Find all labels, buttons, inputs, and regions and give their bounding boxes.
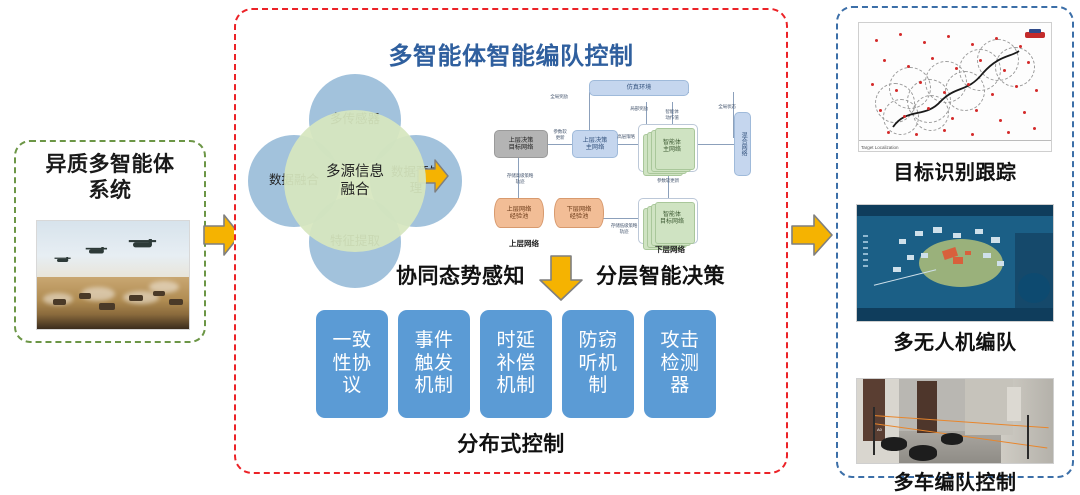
label-hierarchical-intelligent-decision: 分层智能决策 xyxy=(596,260,725,290)
net-node-lower-replay-buffer-label: 下层网络 经验池 xyxy=(567,206,592,221)
net-footer-lower-network: 下层网络 xyxy=(640,244,700,255)
control-box-attack-detector[interactable]: 攻击 检测 器 xyxy=(644,310,716,418)
label-cooperative-situation-awareness: 协同态势感知 xyxy=(396,260,525,290)
heterogeneous-system-photo xyxy=(36,220,190,330)
net-node-upper-replay-buffer-label: 上层网络 经验池 xyxy=(507,206,532,221)
venn-center-label-line1: 多源信息 xyxy=(326,163,384,181)
photo-vehicle xyxy=(99,303,115,310)
control-box-line: 检测 xyxy=(660,353,699,374)
control-box-line: 防窃 xyxy=(578,330,617,351)
control-box-line: 事件 xyxy=(414,330,453,351)
control-box-line: 机制 xyxy=(496,375,535,396)
control-box-consistency-protocol[interactable]: 一致 性协 议 xyxy=(316,310,388,418)
net-node-upper-target-network-label: 上层决策 目标网络 xyxy=(509,137,534,152)
net-edge-label-store-upper: 存储高级策略 轨迹 xyxy=(502,168,538,184)
label-distributed-control: 分布式控制 xyxy=(236,428,786,458)
net-edge-label-store-lower: 存储低级策略 轨迹 xyxy=(606,218,642,234)
application-image-target-localization: Target Localization xyxy=(858,22,1052,152)
diagram-canvas: 异质多智能体 系统 xyxy=(0,0,1080,483)
control-box-line: 议 xyxy=(342,375,362,396)
control-box-line: 触发 xyxy=(414,353,453,374)
left-panel-title-line2: 系统 xyxy=(89,179,132,202)
photo-vehicle xyxy=(169,299,183,305)
arrow-center-to-right-icon xyxy=(790,212,834,258)
application-caption-target-tracking: 目标识别跟踪 xyxy=(838,156,1072,185)
control-box-line: 攻击 xyxy=(660,330,699,351)
control-box-line: 补偿 xyxy=(496,353,535,374)
control-box-line: 听机 xyxy=(578,353,617,374)
arrow-down-icon xyxy=(536,254,586,307)
control-box-line: 一致 xyxy=(332,330,371,351)
net-edge-label-global-state: 全局状态 xyxy=(712,104,742,109)
marker-label-a0: A0 xyxy=(877,427,882,432)
venn-center-multi-source-fusion: 多源信息 融合 xyxy=(284,110,426,252)
left-panel-heterogeneous-system: 异质多智能体 系统 xyxy=(14,140,206,343)
photo-vehicle xyxy=(53,299,66,305)
photo-vehicle xyxy=(153,291,165,296)
net-edge xyxy=(698,144,734,145)
net-edge-label-high-level-policy: 高层策略 xyxy=(612,134,640,139)
net-edge-label-param-update-agent: 参数软更新 xyxy=(646,178,690,183)
left-panel-title-line1: 异质多智能体 xyxy=(46,153,175,176)
control-box-line: 时延 xyxy=(496,330,535,351)
control-box-line: 机制 xyxy=(414,375,453,396)
target-vehicle-icon xyxy=(1025,29,1045,40)
corridor-far-door xyxy=(1007,387,1021,421)
net-edge xyxy=(589,92,590,130)
venn-center-label-line2: 融合 xyxy=(326,181,384,199)
radar-widget xyxy=(1018,273,1050,303)
net-edge-label-global-reward: 全局奖励 xyxy=(542,94,576,99)
net-node-simulation-env-label: 仿真环境 xyxy=(627,84,652,91)
photo-vehicle xyxy=(129,295,143,301)
application-image-vehicle-formation: A0 xyxy=(856,378,1054,464)
center-panel-formation-control: 多智能体智能编队控制 多传感器 数据融合 数据预处理 特征提取 多源信息 融合 xyxy=(234,8,788,474)
net-node-mixing-network-label: 混合网络 xyxy=(739,132,746,156)
net-footer-upper-network: 上层网络 xyxy=(494,238,554,249)
control-box-delay-compensation[interactable]: 时延 补偿 机制 xyxy=(480,310,552,418)
control-box-event-trigger[interactable]: 事件 触发 机制 xyxy=(398,310,470,418)
photo-vehicle xyxy=(79,293,91,299)
net-edge xyxy=(616,144,640,145)
center-panel-title: 多智能体智能编队控制 xyxy=(236,36,786,71)
control-box-line: 器 xyxy=(670,375,690,396)
net-edge-label-param-update-upper: 参数软 更新 xyxy=(546,124,574,140)
net-edge-label-agent-action: 智能体 动作值 xyxy=(658,104,686,120)
net-node-lower-replay-buffer: 下层网络 经验池 xyxy=(554,198,604,228)
corridor-wall xyxy=(965,379,1013,435)
control-box-line: 制 xyxy=(588,375,608,396)
net-edge xyxy=(548,144,572,145)
left-panel-title: 异质多智能体 系统 xyxy=(16,152,204,203)
image-caption-target-localization: Target Localization xyxy=(861,145,899,150)
hierarchical-network-schematic: 仿真环境 上层决策 目标网络 上层决策 主网络 智能体 主网络 混合网络 xyxy=(450,68,786,258)
net-node-simulation-env: 仿真环境 xyxy=(589,80,689,96)
control-box-anti-eavesdrop[interactable]: 防窃 听机 制 xyxy=(562,310,634,418)
net-node-agent-main-network-label: 智能体 主网络 xyxy=(650,140,694,154)
net-edge-label-local-reward: 局部奖励 xyxy=(626,106,652,111)
net-node-agent-target-network-label: 智能体 目标网络 xyxy=(650,212,694,226)
control-box-line: 性协 xyxy=(332,353,371,374)
net-node-mixing-network: 混合网络 xyxy=(734,112,751,176)
application-image-uav-formation xyxy=(856,204,1054,322)
right-panel-applications: Target Localization 目标识别跟踪 xyxy=(836,6,1074,478)
application-caption-vehicle-formation: 多车编队控制 xyxy=(838,466,1072,495)
application-caption-uav-formation: 多无人机编队 xyxy=(838,326,1072,355)
net-node-upper-target-network: 上层决策 目标网络 xyxy=(494,130,548,158)
net-node-upper-main-network-label: 上层决策 主网络 xyxy=(583,137,608,152)
distributed-control-box-row: 一致 性协 议 事件 触发 机制 时延 补偿 机制 防窃 听机 xyxy=(316,310,716,420)
net-node-upper-replay-buffer: 上层网络 经验池 xyxy=(494,198,544,228)
photo-sky xyxy=(37,221,189,284)
